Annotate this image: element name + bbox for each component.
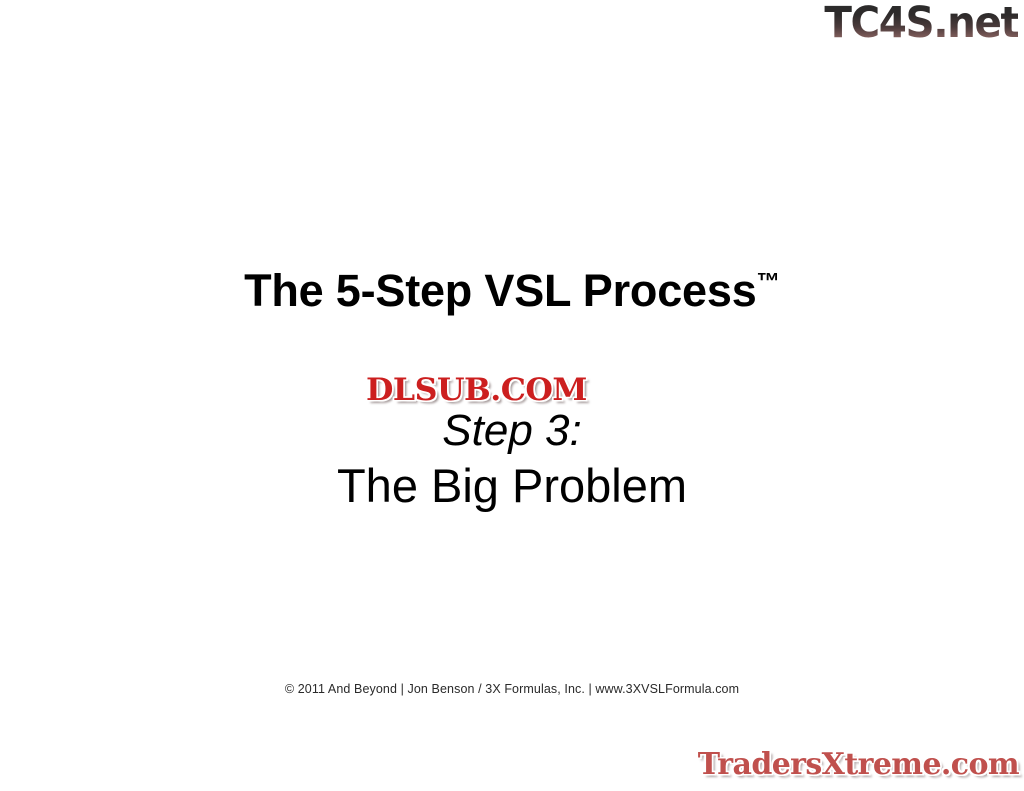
tradersxtreme-watermark: TradersXtreme.com bbox=[698, 748, 1019, 781]
subtitle-step-label: Step 3: bbox=[0, 406, 1024, 455]
slide-title-text: The 5-Step VSL Process bbox=[244, 265, 756, 316]
trademark-symbol: ™ bbox=[757, 268, 780, 294]
subtitle-topic: The Big Problem bbox=[0, 455, 1024, 516]
tc4s-brand-logo: TC4S.net bbox=[824, 2, 1018, 45]
presentation-slide: TC4S.net The 5-Step VSL Process™ DLSUB.C… bbox=[0, 0, 1024, 791]
subtitle-block: Step 3: The Big Problem bbox=[0, 406, 1024, 516]
title-block: The 5-Step VSL Process™ bbox=[0, 267, 1024, 316]
slide-title: The 5-Step VSL Process™ bbox=[0, 267, 1024, 316]
dlsub-watermark: DLSUB.COM bbox=[366, 373, 587, 408]
footer-copyright: © 2011 And Beyond | Jon Benson / 3X Form… bbox=[0, 682, 1024, 696]
